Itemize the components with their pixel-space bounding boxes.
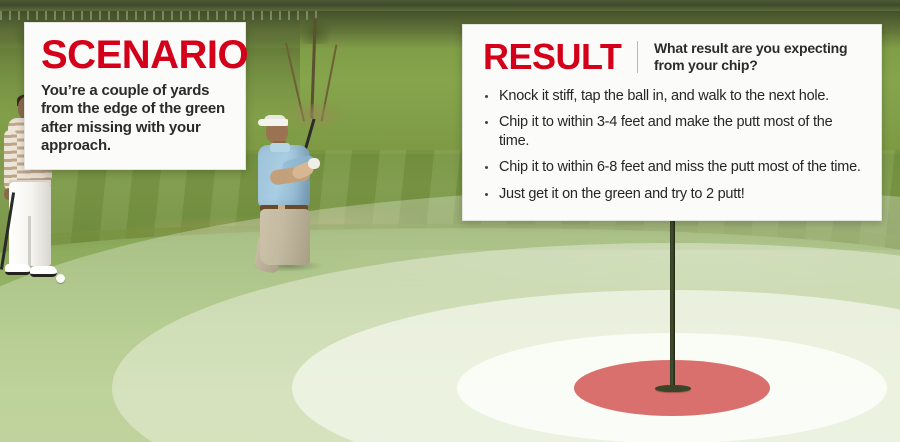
bullet-icon [485, 193, 488, 196]
golfer-left-shoe-front [30, 266, 57, 277]
visor-brim [258, 119, 288, 126]
golf-ball [56, 274, 65, 283]
scenario-panel: SCENARIO You’re a couple of yards from t… [24, 22, 246, 170]
result-option-label: Chip it to within 3-4 feet and make the … [499, 114, 832, 149]
result-heading: RESULT [483, 39, 637, 75]
bullet-icon [485, 166, 488, 169]
golfer-right-khaki-pants [260, 209, 310, 265]
result-option-label: Chip it to within 6-8 feet and miss the … [499, 159, 861, 175]
golf-glove [308, 158, 320, 169]
bullet-icon [485, 121, 488, 124]
result-option[interactable]: Chip it to within 3-4 feet and make the … [483, 113, 863, 151]
golfer-left-shoe-back [5, 264, 31, 275]
result-option-label: Knock it stiff, tap the ball in, and wal… [499, 88, 829, 104]
scenario-description: You’re a couple of yards from the edge o… [41, 82, 229, 155]
golfer-chipping [252, 112, 338, 262]
result-options-list: Knock it stiff, tap the ball in, and wal… [483, 87, 863, 204]
result-question: What result are you expecting from your … [638, 40, 863, 74]
golf-scenario-graphic: SCENARIO You’re a couple of yards from t… [0, 0, 900, 442]
result-option[interactable]: Chip it to within 6-8 feet and miss the … [483, 158, 863, 177]
result-panel: RESULT What result are you expecting fro… [462, 24, 882, 221]
golfer-right-collar [270, 143, 290, 152]
result-option-label: Just get it on the green and try to 2 pu… [499, 186, 745, 202]
result-option[interactable]: Knock it stiff, tap the ball in, and wal… [483, 87, 863, 106]
scenario-heading: SCENARIO [41, 35, 229, 75]
hole-cup-base [655, 385, 691, 392]
bullet-icon [485, 95, 488, 98]
result-header: RESULT What result are you expecting fro… [483, 39, 863, 75]
result-option[interactable]: Just get it on the green and try to 2 pu… [483, 185, 863, 204]
golfer-left-leg-seam [28, 216, 31, 268]
